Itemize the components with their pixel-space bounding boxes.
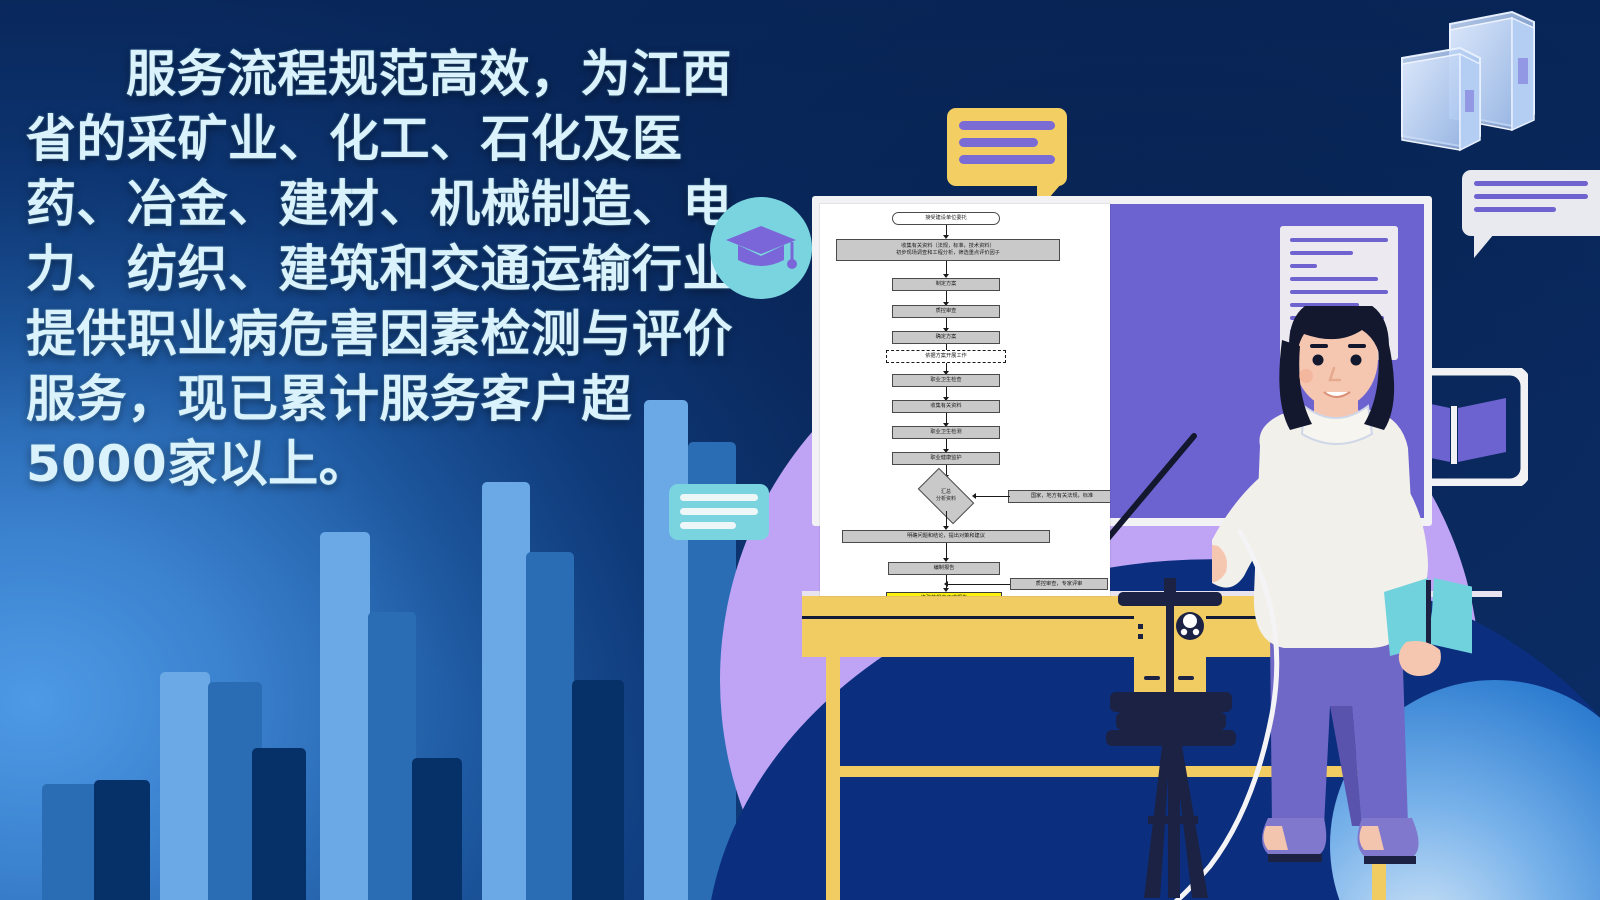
- flow-node: 收集有关资料（法规，标准，技术资料） 初步现场调查和工程分析，筛选重点评价因子: [836, 239, 1060, 261]
- flow-node: 编制报告: [888, 562, 1000, 575]
- flow-node: 收集有关资料: [892, 400, 1000, 413]
- stacked-books-icon: [1382, 6, 1582, 176]
- chart-bar: [368, 612, 416, 900]
- page-title: 服务流程规范高效，为江西省的采矿业、化工、石化及医药、冶金、建材、机械制造、电力…: [26, 42, 766, 497]
- speech-bubble-icon: [669, 484, 769, 540]
- flow-node: 制定方案: [892, 278, 1000, 291]
- flow-node: 质控审查，专家评审: [1010, 578, 1108, 590]
- flowchart-panel: 接受建设单位委托 收集有关资料（法规，标准，技术资料） 初步现场调查和工程分析，…: [820, 204, 1110, 596]
- flow-node: 依据方案开展工作: [886, 350, 1006, 363]
- chart-bar: [94, 780, 150, 900]
- chart-bar: [412, 758, 462, 900]
- flow-node-label: 汇总 分析资料: [921, 489, 971, 502]
- chart-bar: [482, 482, 530, 900]
- graduation-cap-icon: [710, 197, 812, 299]
- flow-node: 接受建设单位委托: [892, 212, 1000, 225]
- flow-node: 确定方案: [892, 331, 1000, 344]
- chart-bar: [526, 552, 574, 900]
- desk-leg: [826, 657, 840, 900]
- flow-node-highlight: 修改并提交正式报告: [886, 592, 1002, 596]
- chart-bar: [42, 784, 98, 900]
- flowchart: 接受建设单位委托 收集有关资料（法规，标准，技术资料） 初步现场调查和工程分析，…: [820, 204, 1110, 596]
- flow-node: 明确问题和结论，提出对策和建议: [842, 530, 1050, 543]
- poster-canvas: 服务流程规范高效，为江西省的采矿业、化工、石化及医药、冶金、建材、机械制造、电力…: [0, 0, 1600, 900]
- flow-node: 职业卫生检测: [892, 426, 1000, 439]
- chart-bar: [160, 672, 210, 900]
- flow-node: 职业卫生检查: [892, 374, 1000, 387]
- flow-node: 质控审查: [892, 305, 1000, 318]
- flow-node: 职业健康监护: [892, 452, 1000, 465]
- chart-bar: [252, 748, 306, 900]
- speech-bubble-icon: [947, 108, 1067, 186]
- chart-bar: [320, 532, 370, 900]
- flow-node: 国家，地方有关法规，标准: [1008, 490, 1110, 503]
- classroom-illustration: 接受建设单位委托 收集有关资料（法规，标准，技术资料） 初步现场调查和工程分析，…: [812, 196, 1512, 900]
- chart-bar: [572, 680, 624, 900]
